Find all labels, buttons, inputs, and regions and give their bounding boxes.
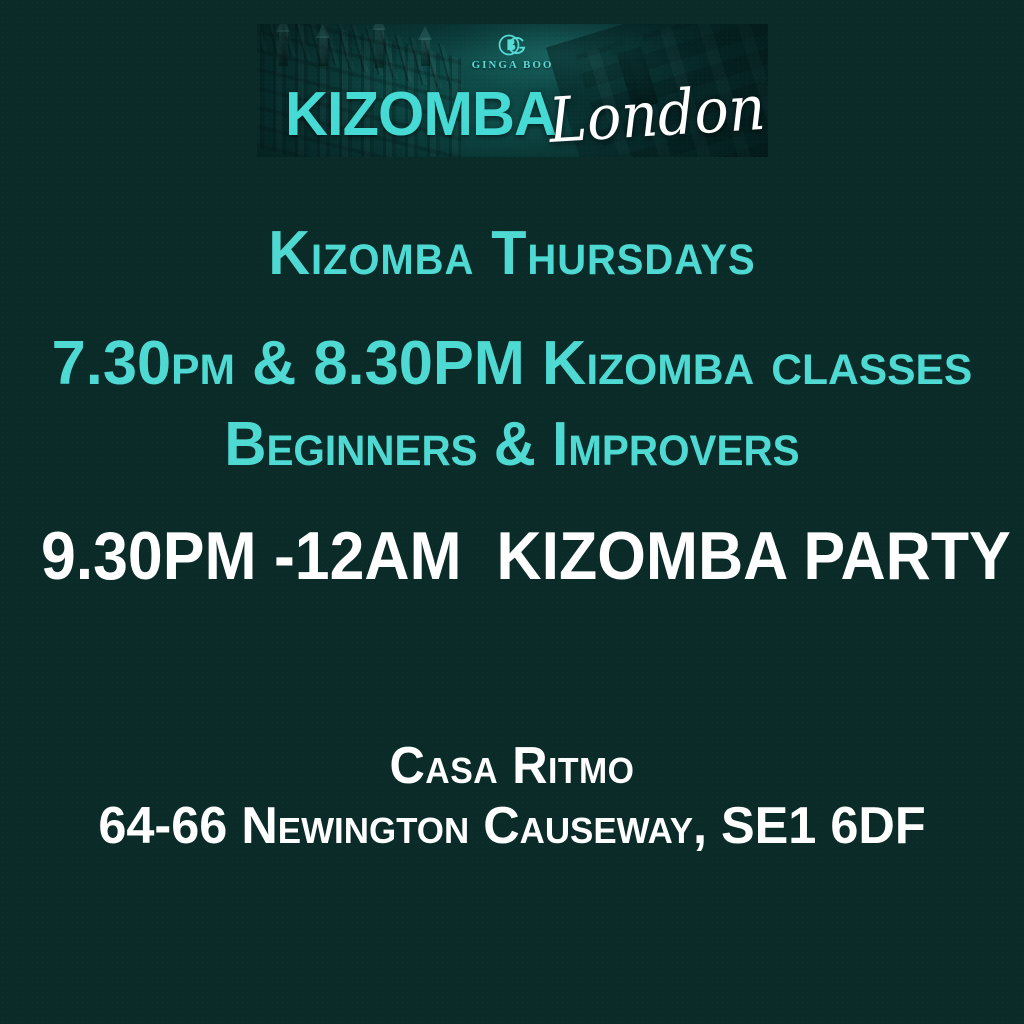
wordmark-kizomba: KIZOMBA — [285, 84, 556, 146]
brand-logo-wordmark: GINGA BOO — [472, 59, 554, 71]
banner-wordmark: KIZOMBA London — [257, 76, 768, 154]
banner-image: GINGA BOO KIZOMBA London — [257, 24, 768, 157]
event-flyer: GINGA BOO KIZOMBA London Kizomba Thursda… — [0, 0, 1024, 1024]
party-times-line: 9.30PM -12AM KIZOMBA PARTY — [41, 522, 983, 590]
wordmark-london-script: London — [547, 77, 767, 152]
brand-logo: GINGA BOO — [257, 32, 768, 71]
ginga-boo-monogram-icon — [496, 32, 530, 58]
venue-name: Casa Ritmo — [31, 740, 994, 792]
class-levels-line: Beginners & Improvers — [31, 414, 994, 476]
venue-address: 64-66 Newington Causeway, SE1 6DF — [15, 800, 1008, 852]
event-heading: Kizomba Thursdays — [36, 223, 988, 285]
class-times-line: 7.30pm & 8.30PM Kizomba classes — [5, 333, 1019, 395]
